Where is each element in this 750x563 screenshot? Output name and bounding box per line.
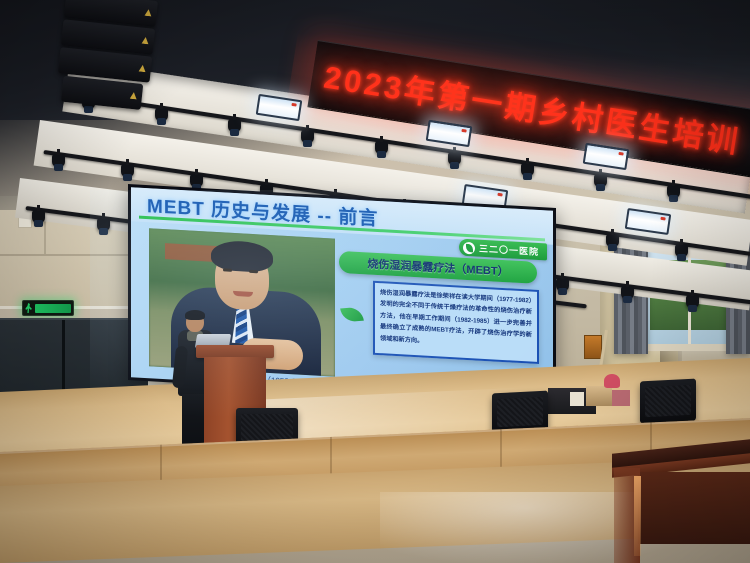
par-can-light bbox=[32, 210, 45, 223]
hospital-logo-badge: 三二〇一医院 bbox=[459, 239, 547, 261]
emergency-exit-sign bbox=[22, 300, 74, 316]
par-can-light bbox=[448, 152, 461, 165]
leaf-circle-icon bbox=[463, 241, 475, 254]
hanging-line-array-speaker bbox=[54, 0, 158, 120]
par-can-light bbox=[556, 278, 569, 291]
hospital-logo-text: 三二〇一医院 bbox=[479, 242, 539, 258]
green-leaf-bullet-icon bbox=[340, 307, 364, 323]
par-can-light bbox=[521, 163, 534, 176]
exit-sign-panel bbox=[35, 304, 71, 313]
desk-panel bbox=[638, 472, 750, 544]
par-can-light bbox=[97, 218, 110, 231]
par-can-light bbox=[228, 119, 241, 132]
red-box bbox=[612, 390, 630, 406]
running-man-icon bbox=[25, 303, 33, 313]
par-can-light bbox=[155, 108, 168, 121]
par-can-light bbox=[686, 295, 699, 308]
stage-monitor-right bbox=[640, 379, 696, 424]
white-box bbox=[570, 392, 584, 406]
wooden-desk bbox=[612, 446, 750, 563]
slide-body-text: 烧伤湿润暴露疗法是徐荣祥在读大学期间（1977-1982）发明的完全不同于传统干… bbox=[380, 287, 532, 353]
cardboard-box bbox=[586, 386, 612, 406]
slide-body-box: 烧伤湿润暴露疗法是徐荣祥在读大学期间（1977-1982）发明的完全不同于传统干… bbox=[373, 281, 539, 364]
slide-section-title: 烧伤湿润暴露疗法（MEBT） bbox=[367, 255, 508, 279]
window-sill bbox=[640, 344, 736, 351]
par-can-light bbox=[301, 130, 314, 143]
portrait-eye-left bbox=[223, 268, 232, 272]
par-can-light bbox=[606, 234, 619, 247]
par-can-light bbox=[667, 185, 680, 198]
par-can-light bbox=[621, 286, 634, 299]
par-can-light bbox=[675, 244, 688, 257]
par-can-light bbox=[121, 164, 134, 177]
conference-hall-photo: 2023年第一期乡村医生培训 MEBT 历史与发展 -- 前言 三二〇一医院 烧… bbox=[0, 0, 750, 563]
presenter-hair bbox=[185, 310, 205, 320]
par-can-light bbox=[375, 141, 388, 154]
portrait-eye-right bbox=[249, 270, 258, 274]
par-can-light bbox=[52, 154, 65, 167]
flower-arrangement bbox=[604, 374, 620, 388]
par-can-light bbox=[190, 174, 203, 187]
desk-highlight bbox=[634, 476, 641, 556]
par-can-light bbox=[594, 174, 607, 187]
wall-poster bbox=[584, 335, 602, 359]
